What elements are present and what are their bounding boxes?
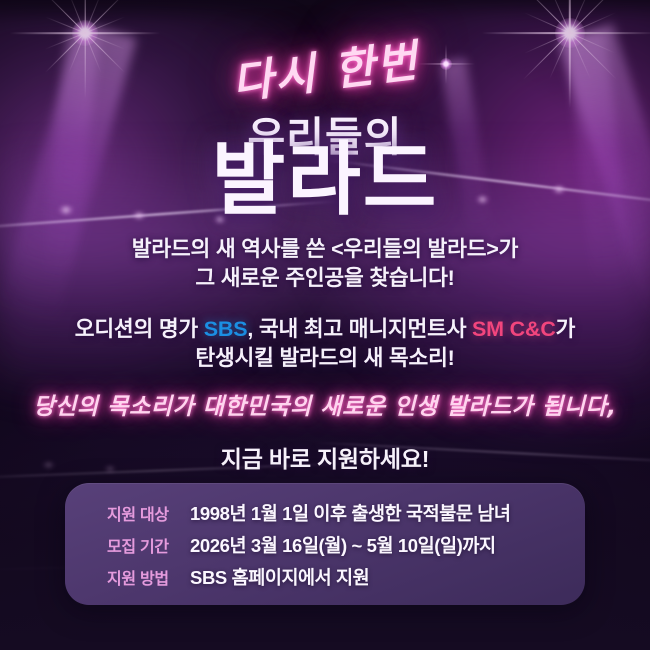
info-row: 지원 방법 SBS 홈페이지에서 지원 xyxy=(65,561,585,592)
info-row: 지원 대상 1998년 1월 1일 이후 출생한 국적불문 남녀 xyxy=(65,497,585,528)
tagline-script: 당신의 목소리가 대한민국의 새로운 인생 발라드가 됩니다, xyxy=(0,387,650,421)
info-row: 모집 기간 2026년 3월 16일(월) ~ 5월 10일(일)까지 xyxy=(65,529,585,560)
call-to-action-text: 지금 바로 지원하세요! xyxy=(0,440,650,474)
title-main: 발라드 xyxy=(0,140,650,220)
info-value-eligibility: 1998년 1월 1일 이후 출생한 국적불문 남녀 xyxy=(190,500,510,526)
info-label-period: 모집 기간 xyxy=(65,533,190,557)
info-value-period: 2026년 3월 16일(월) ~ 5월 10일(일)까지 xyxy=(190,532,496,558)
poster-content: 다시 한번 우리들의 발라드 발라드의 새 역사를 쓴 <우리들의 발라드>가 … xyxy=(0,0,650,650)
info-label-method: 지원 방법 xyxy=(65,565,190,589)
body-line-4: 탄생시킬 발라드의 새 목소리! xyxy=(0,344,650,373)
audition-poster: 다시 한번 우리들의 발라드 발라드의 새 역사를 쓴 <우리들의 발라드>가 … xyxy=(0,0,650,650)
body-line-3-mid: , 국내 최고 매니지먼트사 xyxy=(247,317,472,341)
body-line-2: 그 새로운 주인공을 찾습니다! xyxy=(0,264,650,293)
body-line-3: 오디션의 명가 SBS, 국내 최고 매니지먼트사 SM C&C가 xyxy=(0,315,650,344)
body-line-1: 발라드의 새 역사를 쓴 <우리들의 발라드>가 xyxy=(0,235,650,264)
body-line-3-post: 가 xyxy=(556,317,576,341)
smcc-brand-text: SM C&C xyxy=(472,317,556,341)
body-text-block: 발라드의 새 역사를 쓴 <우리들의 발라드>가 그 새로운 주인공을 찾습니다… xyxy=(0,235,650,373)
application-info-card: 지원 대상 1998년 1월 1일 이후 출생한 국적불문 남녀 모집 기간 2… xyxy=(65,483,585,605)
body-spacer xyxy=(0,293,650,315)
sbs-brand-text: SBS xyxy=(204,317,248,341)
info-value-method: SBS 홈페이지에서 지원 xyxy=(190,564,369,590)
body-line-3-pre: 오디션의 명가 xyxy=(75,317,204,341)
info-label-eligibility: 지원 대상 xyxy=(65,501,190,525)
